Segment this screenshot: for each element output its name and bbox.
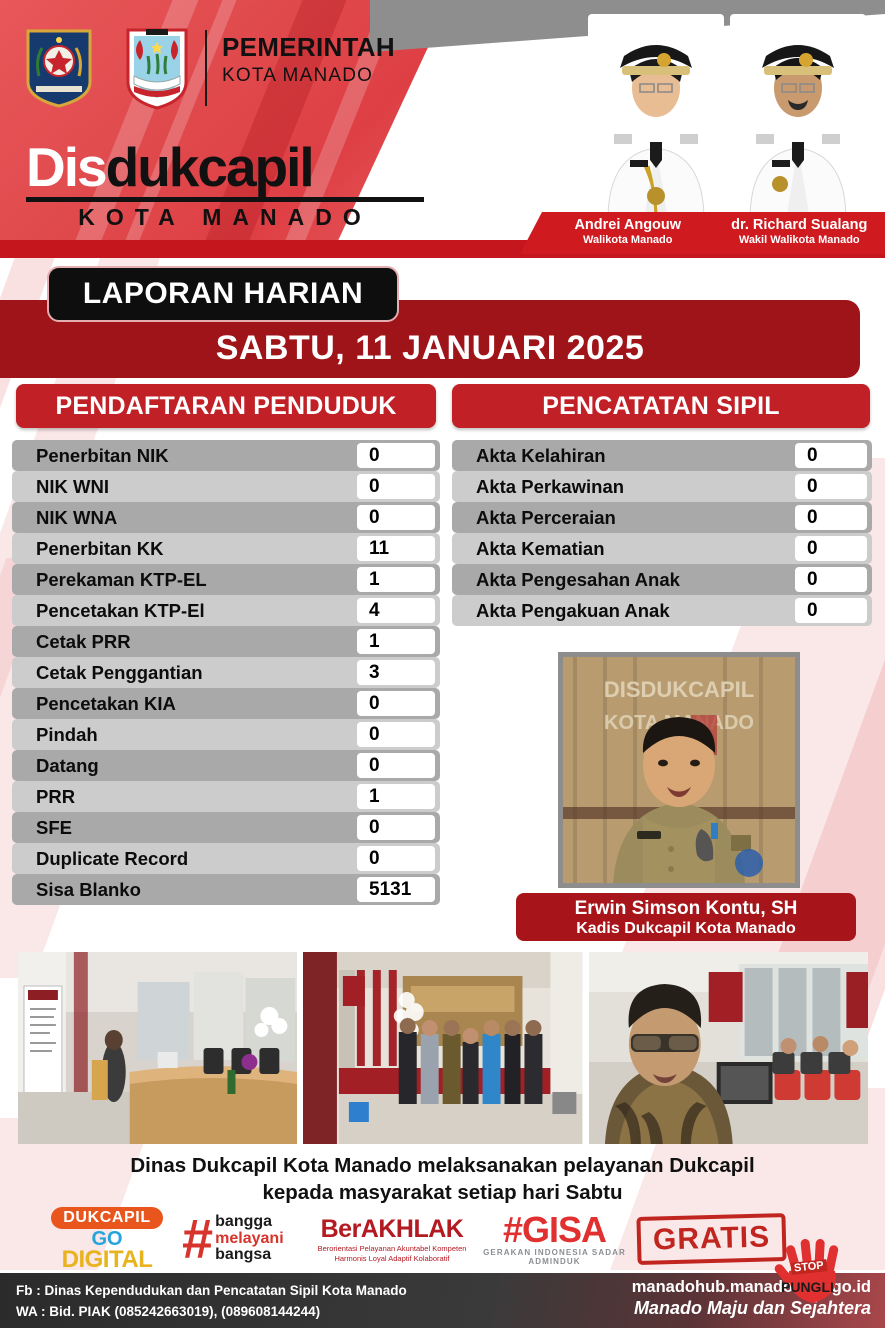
table-row: Penerbitan NIK0 xyxy=(12,440,440,471)
row-label: Cetak PRR xyxy=(12,631,357,653)
bangga-l3: bangsa xyxy=(215,1247,283,1264)
berakhlak-title: BerAKHLAK xyxy=(312,1215,472,1244)
row-label: Pencetakan KIA xyxy=(12,693,357,715)
row-value: 0 xyxy=(357,846,435,871)
dukcapil-go-digital-l3: DIGITAL xyxy=(32,1249,182,1271)
dukcapil-go-digital-logo: DUKCAPIL GO DIGITAL xyxy=(32,1207,182,1271)
row-value: 0 xyxy=(357,443,435,468)
row-label: Akta Kematian xyxy=(452,538,795,560)
row-label: Sisa Blanko xyxy=(12,879,357,901)
report-label-pill: LAPORAN HARIAN xyxy=(47,266,399,322)
gisa-logo: #GISA GERAKAN INDONESIA SADAR ADMINDUK xyxy=(472,1212,637,1266)
gratis-label: GRATIS xyxy=(653,1220,771,1256)
table-pencatatan-sipil: Akta Kelahiran0Akta Perkawinan0Akta Perc… xyxy=(452,440,872,626)
row-label: Akta Kelahiran xyxy=(452,445,795,467)
row-label: Pencetakan KTP-El xyxy=(12,600,357,622)
table-row: Pencetakan KIA0 xyxy=(12,688,440,719)
activity-photo-strip xyxy=(18,952,868,1144)
row-value: 0 xyxy=(357,753,435,778)
wordmark-dukcapil: dukcapil xyxy=(106,136,313,198)
footer-whatsapp: WA : Bid. PIAK (085242663019), (08960814… xyxy=(16,1302,407,1323)
row-value: 0 xyxy=(357,505,435,530)
table-row: Datang0 xyxy=(12,750,440,781)
daily-report-poster: PEMERINTAH KOTA MANADO Disdukcapil KOTA … xyxy=(0,0,885,1328)
gratis-stamp-logo: GRATIS xyxy=(637,1215,767,1263)
kadis-name-bar: Erwin Simson Kontu, SH Kadis Dukcapil Ko… xyxy=(516,893,856,941)
row-label: Akta Perceraian xyxy=(452,507,795,529)
row-value: 0 xyxy=(795,443,867,468)
section-right-title: PENCATATAN SIPIL xyxy=(542,392,779,421)
table-row: PRR1 xyxy=(12,781,440,812)
table-row: Akta Kematian0 xyxy=(452,533,872,564)
row-label: Akta Pengakuan Anak xyxy=(452,600,795,622)
bangga-l1: bangga xyxy=(215,1214,283,1231)
footer-contact: Fb : Dinas Kependudukan dan Pencatatan S… xyxy=(16,1281,407,1323)
row-label: Penerbitan KK xyxy=(12,538,357,560)
table-row: Akta Perkawinan0 xyxy=(452,471,872,502)
official-0-name: Andrei Angouw xyxy=(542,217,714,233)
row-label: Akta Perkawinan xyxy=(452,476,795,498)
berakhlak-sub-2: Harmonis Loyal Adaptif Kolaboratif xyxy=(312,1254,472,1264)
row-value: 0 xyxy=(795,474,867,499)
official-0-title: Walikota Manado xyxy=(542,234,714,246)
report-date: SABTU, 11 JANUARI 2025 xyxy=(216,329,645,368)
row-value: 1 xyxy=(357,629,435,654)
group-staff-photo xyxy=(303,952,582,1144)
caption-line-2: kepada masyarakat setiap hari Sabtu xyxy=(0,1179,885,1206)
row-label: NIK WNI xyxy=(12,476,357,498)
footer-facebook: Fb : Dinas Kependudukan dan Pencatatan S… xyxy=(16,1281,407,1302)
row-value: 3 xyxy=(357,660,435,685)
poster-footer: Fb : Dinas Kependudukan dan Pencatatan S… xyxy=(0,1270,885,1328)
officer-selfie-photo xyxy=(589,952,868,1144)
hashtag-icon: # xyxy=(182,1219,213,1258)
kota-manado-crest xyxy=(122,26,192,110)
row-value: 0 xyxy=(357,815,435,840)
row-label: Duplicate Record xyxy=(12,848,357,870)
bangga-l2: melayani xyxy=(215,1231,283,1248)
pungli-label: PUNGLI xyxy=(781,1279,834,1295)
officials-name-bar: Andrei Angouw Walikota Manado dr. Richar… xyxy=(520,212,885,254)
row-label: Penerbitan NIK xyxy=(12,445,357,467)
kadis-title: Kadis Dukcapil Kota Manado xyxy=(516,920,856,938)
service-counter-photo xyxy=(18,952,297,1144)
table-row: Pencetakan KTP-El4 xyxy=(12,595,440,626)
section-left-title: PENDAFTARAN PENDUDUK xyxy=(55,392,396,421)
table-row: Cetak PRR1 xyxy=(12,626,440,657)
table-row: Cetak Penggantian3 xyxy=(12,657,440,688)
walikota-photo xyxy=(588,14,724,220)
table-row: Penerbitan KK11 xyxy=(12,533,440,564)
dukcapil-go-digital-l1: DUKCAPIL xyxy=(63,1209,150,1226)
kadis-name: Erwin Simson Kontu, SH xyxy=(516,898,856,920)
row-label: NIK WNA xyxy=(12,507,357,529)
row-label: SFE xyxy=(12,817,357,839)
wordmark-dis: Dis xyxy=(26,136,106,198)
wordmark-subtitle: KOTA MANADO xyxy=(26,204,424,231)
row-label: Akta Pengesahan Anak xyxy=(452,569,795,591)
partner-logos-row: DUKCAPIL GO DIGITAL # bangga melayani ba… xyxy=(0,1204,885,1274)
row-value: 4 xyxy=(357,598,435,623)
caption-line-1: Dinas Dukcapil Kota Manado melaksanakan … xyxy=(0,1152,885,1179)
row-value: 0 xyxy=(795,567,867,592)
table-row: Akta Kelahiran0 xyxy=(452,440,872,471)
table-row: SFE0 xyxy=(12,812,440,843)
official-1: dr. Richard Sualang Wakil Walikota Manad… xyxy=(714,212,885,246)
row-value: 1 xyxy=(357,567,435,592)
kadis-portrait-photo: DISDUKCAPIL KOTA MANADO xyxy=(563,657,795,883)
kadis-photo-frame: DISDUKCAPIL KOTA MANADO xyxy=(558,652,800,888)
table-pendaftaran-penduduk: Penerbitan NIK0NIK WNI0NIK WNA0Penerbita… xyxy=(12,440,440,905)
row-label: Cetak Penggantian xyxy=(12,662,357,684)
table-row: NIK WNA0 xyxy=(12,502,440,533)
bangga-melayani-bangsa-logo: # bangga melayani bangsa xyxy=(182,1214,312,1264)
official-0: Andrei Angouw Walikota Manado xyxy=(542,212,714,246)
government-title: PEMERINTAH KOTA MANADO xyxy=(222,33,395,86)
table-row: Akta Pengesahan Anak0 xyxy=(452,564,872,595)
table-row: Perekaman KTP-EL1 xyxy=(12,564,440,595)
row-value: 0 xyxy=(795,598,867,623)
row-value: 5131 xyxy=(357,877,435,902)
row-value: 0 xyxy=(795,536,867,561)
gisa-title: #GISA xyxy=(472,1212,637,1248)
row-value: 0 xyxy=(357,474,435,499)
row-label: Perekaman KTP-EL xyxy=(12,569,357,591)
row-value: 0 xyxy=(357,722,435,747)
activity-caption: Dinas Dukcapil Kota Manado melaksanakan … xyxy=(0,1152,885,1206)
table-row: Duplicate Record0 xyxy=(12,843,440,874)
row-label: Pindah xyxy=(12,724,357,746)
table-row: Akta Perceraian0 xyxy=(452,502,872,533)
berakhlak-logo: BerAKHLAK Berorientasi Pelayanan Akuntab… xyxy=(312,1215,472,1264)
table-row: Akta Pengakuan Anak0 xyxy=(452,595,872,626)
officials-photos xyxy=(580,8,880,220)
table-row: NIK WNI0 xyxy=(12,471,440,502)
berakhlak-sub-1: Berorientasi Pelayanan Akuntabel Kompete… xyxy=(312,1244,472,1254)
garuda-pancasila-emblem xyxy=(22,28,96,108)
row-label: Datang xyxy=(12,755,357,777)
section-header-pencatatan-sipil: PENCATATAN SIPIL xyxy=(452,384,870,428)
row-label: PRR xyxy=(12,786,357,808)
gisa-sub: GERAKAN INDONESIA SADAR ADMINDUK xyxy=(472,1248,637,1266)
table-row: Sisa Blanko5131 xyxy=(12,874,440,905)
row-value: 11 xyxy=(357,536,435,561)
official-1-name: dr. Richard Sualang xyxy=(714,217,885,233)
svg-text:DISDUKCAPIL: DISDUKCAPIL xyxy=(604,677,754,702)
official-1-title: Wakil Walikota Manado xyxy=(714,234,885,246)
row-value: 0 xyxy=(357,691,435,716)
wakil-walikota-photo xyxy=(730,14,866,220)
table-row: Pindah0 xyxy=(12,719,440,750)
disdukcapil-wordmark: Disdukcapil KOTA MANADO xyxy=(26,140,446,231)
government-line-2: KOTA MANADO xyxy=(222,65,395,86)
report-label: LAPORAN HARIAN xyxy=(83,277,363,311)
government-line-1: PEMERINTAH xyxy=(222,33,395,62)
section-header-pendaftaran-penduduk: PENDAFTARAN PENDUDUK xyxy=(16,384,436,428)
row-value: 0 xyxy=(795,505,867,530)
row-value: 1 xyxy=(357,784,435,809)
header-divider xyxy=(205,30,207,106)
